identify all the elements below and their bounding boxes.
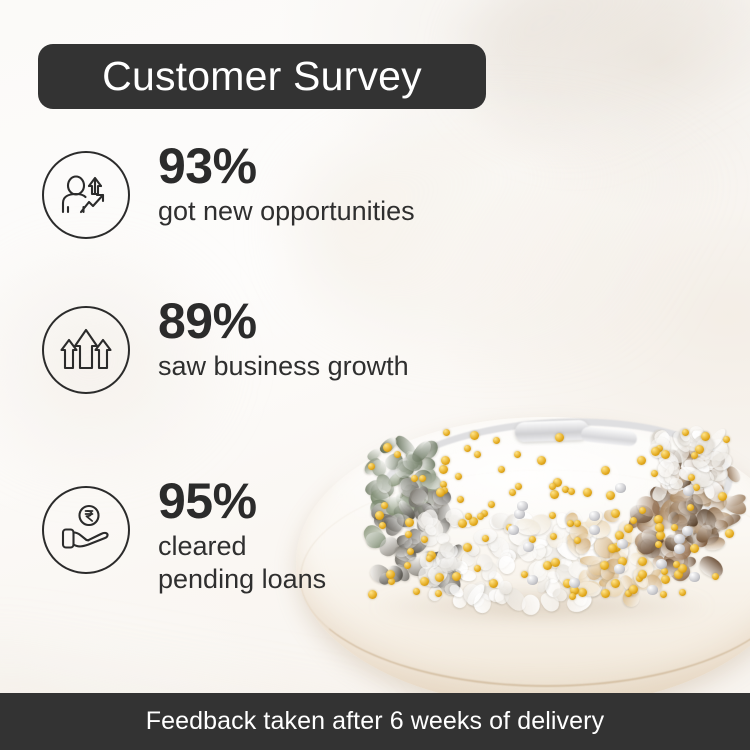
- gold-bead: [537, 456, 546, 465]
- stat-text-block: 95% cleared pending loans: [158, 475, 326, 596]
- product-bracelet-image: [355, 415, 750, 625]
- gold-bead: [660, 591, 667, 598]
- gold-bead: [723, 436, 730, 443]
- gold-bead: [725, 529, 734, 538]
- gold-bead: [630, 517, 637, 524]
- gold-bead: [673, 561, 680, 568]
- silver-bead: [615, 483, 626, 493]
- gold-bead: [601, 589, 610, 598]
- gold-bead: [661, 575, 670, 584]
- gold-bead: [551, 558, 560, 567]
- footer-bar: Feedback taken after 6 weeks of delivery: [0, 693, 750, 750]
- gold-bead: [637, 456, 646, 465]
- gold-bead: [567, 520, 574, 527]
- silver-bead: [656, 559, 667, 569]
- stat-label: got new opportunities: [158, 195, 415, 228]
- gold-bead: [405, 531, 412, 538]
- gold-bead: [477, 513, 484, 520]
- gold-bead: [651, 470, 658, 477]
- gold-bead: [489, 579, 498, 588]
- gold-bead: [568, 488, 575, 495]
- stat-percent: 89%: [158, 295, 409, 347]
- hand-rupee-coin-icon: [42, 486, 130, 574]
- gold-bead: [404, 562, 411, 569]
- stat-row: 93% got new opportunities: [42, 140, 415, 239]
- gemstone-chip: [715, 520, 728, 530]
- gold-bead: [691, 452, 698, 459]
- gold-bead: [482, 535, 489, 542]
- gold-bead: [457, 496, 464, 503]
- gold-bead: [679, 589, 686, 596]
- gold-bead: [455, 473, 462, 480]
- gold-bead: [381, 502, 388, 509]
- three-up-arrows-icon: [42, 306, 130, 394]
- stat-text-block: 89% saw business growth: [158, 295, 409, 383]
- gold-bead: [661, 568, 668, 575]
- stat-label: saw business growth: [158, 350, 409, 383]
- gold-bead: [687, 504, 694, 511]
- gold-bead: [549, 512, 556, 519]
- silver-bead: [517, 501, 528, 511]
- gold-bead: [600, 561, 609, 570]
- stat-percent: 95%: [158, 475, 326, 527]
- gold-bead: [583, 488, 592, 497]
- silver-bead: [614, 564, 625, 574]
- silver-bead: [569, 578, 580, 588]
- stat-percent: 93%: [158, 140, 415, 192]
- gold-bead: [470, 431, 479, 440]
- gold-bead: [569, 593, 576, 600]
- gold-bead: [388, 578, 395, 585]
- gold-bead: [549, 483, 556, 490]
- gold-bead: [465, 513, 472, 520]
- gold-bead: [493, 437, 500, 444]
- gold-bead: [420, 577, 429, 586]
- gold-bead: [611, 579, 620, 588]
- gold-bead: [651, 447, 660, 456]
- gold-bead: [441, 456, 450, 465]
- gold-bead: [405, 518, 414, 527]
- gold-bead: [690, 544, 699, 553]
- gold-bead: [578, 588, 587, 597]
- silver-bead: [674, 544, 685, 554]
- gold-bead: [375, 511, 384, 520]
- gold-bead: [498, 466, 505, 473]
- person-growth-arrow-icon: [42, 151, 130, 239]
- gold-bead: [515, 483, 522, 490]
- gold-bead: [452, 572, 461, 581]
- gold-bead: [611, 509, 620, 518]
- gold-bead: [386, 570, 395, 579]
- gemstone-chip: [670, 478, 683, 489]
- gold-bead: [474, 565, 481, 572]
- silver-bead: [589, 511, 600, 521]
- gold-bead: [701, 432, 710, 441]
- gold-bead: [435, 590, 442, 597]
- gold-bead: [474, 451, 481, 458]
- gold-bead: [655, 523, 664, 532]
- gold-bead: [464, 445, 471, 452]
- silver-bead: [617, 539, 628, 549]
- gold-bead: [488, 501, 495, 508]
- footer-note: Feedback taken after 6 weeks of delivery: [146, 707, 604, 736]
- gold-bead: [439, 465, 448, 474]
- gold-bead: [368, 590, 377, 599]
- gold-bead: [436, 488, 445, 497]
- stat-text-block: 93% got new opportunities: [158, 140, 415, 228]
- silver-bead: [589, 525, 600, 535]
- gold-bead: [718, 492, 727, 501]
- gold-bead: [458, 519, 467, 528]
- gold-bead: [688, 474, 695, 481]
- gold-bead: [624, 524, 633, 533]
- gold-bead: [606, 491, 615, 500]
- page-title: Customer Survey: [102, 56, 422, 97]
- gold-bead: [443, 429, 450, 436]
- title-badge: Customer Survey: [38, 44, 486, 109]
- gold-bead: [574, 537, 581, 544]
- silver-bead: [527, 575, 538, 585]
- stat-row: 89% saw business growth: [42, 295, 409, 394]
- gold-bead: [712, 573, 719, 580]
- silver-bead: [683, 486, 694, 496]
- gold-bead: [601, 466, 610, 475]
- gold-bead: [550, 490, 559, 499]
- stat-label: cleared pending loans: [158, 530, 326, 596]
- gold-bead: [629, 585, 638, 594]
- gold-bead: [383, 443, 392, 452]
- gold-bead: [368, 463, 375, 470]
- gold-bead: [413, 588, 420, 595]
- gold-bead: [509, 489, 516, 496]
- stat-row: 95% cleared pending loans: [42, 475, 326, 596]
- bracelet-stone-cluster: [355, 415, 750, 625]
- silver-bead: [674, 534, 685, 544]
- customer-survey-poster: Customer Survey: [0, 0, 750, 750]
- silver-bead: [508, 525, 519, 535]
- silver-bead: [647, 585, 658, 595]
- gemstone-chip: [460, 569, 477, 581]
- gold-bead: [514, 451, 521, 458]
- silver-bead: [689, 572, 700, 582]
- gold-bead: [555, 433, 564, 442]
